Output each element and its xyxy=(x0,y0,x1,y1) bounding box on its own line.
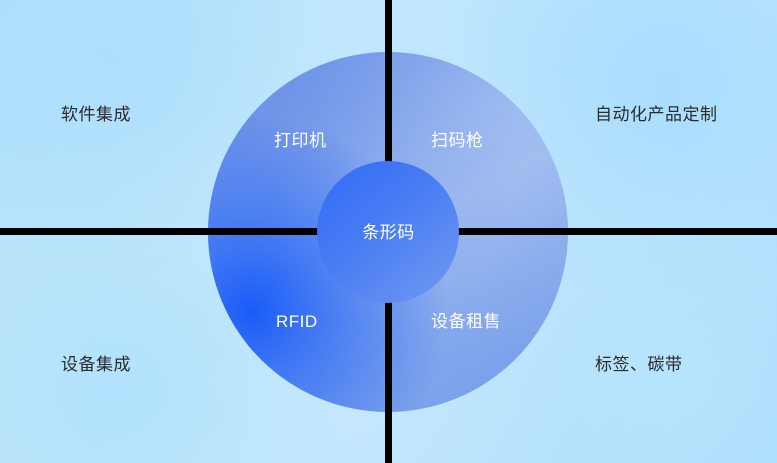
center-label-barcode: 条形码 xyxy=(0,224,777,241)
quadrant-label-top-left: 软件集成 xyxy=(61,106,131,123)
ring-label-scanner: 扫码枪 xyxy=(431,132,484,149)
ring-label-rfid: RFID xyxy=(276,313,318,330)
ring-label-printer: 打印机 xyxy=(274,132,327,149)
diagram-canvas: 软件集成 自动化产品定制 设备集成 标签、碳带 打印机 扫码枪 RFID 设备租… xyxy=(0,0,777,463)
quadrant-label-bottom-right: 标签、碳带 xyxy=(595,356,683,373)
quadrant-label-top-right: 自动化产品定制 xyxy=(595,106,718,123)
quadrant-label-bottom-left: 设备集成 xyxy=(61,356,131,373)
ring-label-equipment-rental: 设备租售 xyxy=(431,313,501,330)
